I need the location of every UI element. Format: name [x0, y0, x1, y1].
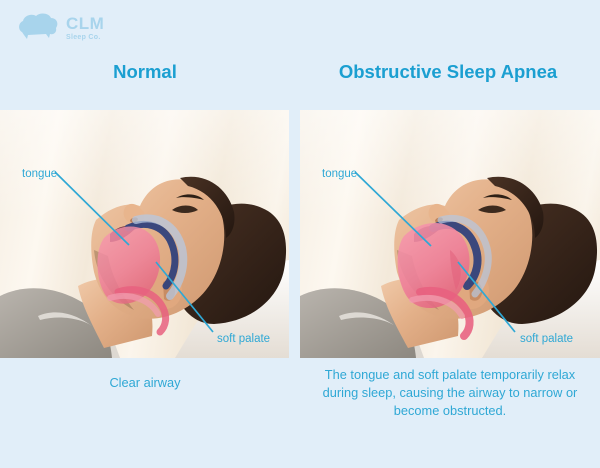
infographic-page: CLM Sleep Co. Normal Obstructive Sleep A…	[0, 0, 600, 468]
photo-normal-airway	[0, 110, 289, 358]
caption-normal: Clear airway	[0, 374, 290, 392]
panel-normal: tongue soft palate	[0, 110, 289, 358]
tongue-label: tongue	[322, 168, 357, 180]
panel-osa: tongue soft palate	[300, 110, 600, 358]
annotation-lines	[300, 110, 600, 358]
brand-logo[interactable]: CLM Sleep Co.	[16, 12, 104, 42]
panel-heading-osa: Obstructive Sleep Apnea	[296, 61, 600, 83]
soft-palate-label: soft palate	[520, 333, 573, 345]
caption-osa: The tongue and soft palate temporarily r…	[300, 366, 600, 420]
soft-palate-label: soft palate	[217, 333, 270, 345]
cloud-pillow-icon	[16, 12, 60, 42]
brand-name: CLM	[66, 15, 104, 32]
brand-tagline: Sleep Co.	[66, 34, 104, 41]
tongue-label: tongue	[22, 168, 57, 180]
photo-obstructed-airway	[300, 110, 600, 358]
panel-heading-normal: Normal	[0, 61, 290, 83]
annotation-lines	[0, 110, 289, 358]
